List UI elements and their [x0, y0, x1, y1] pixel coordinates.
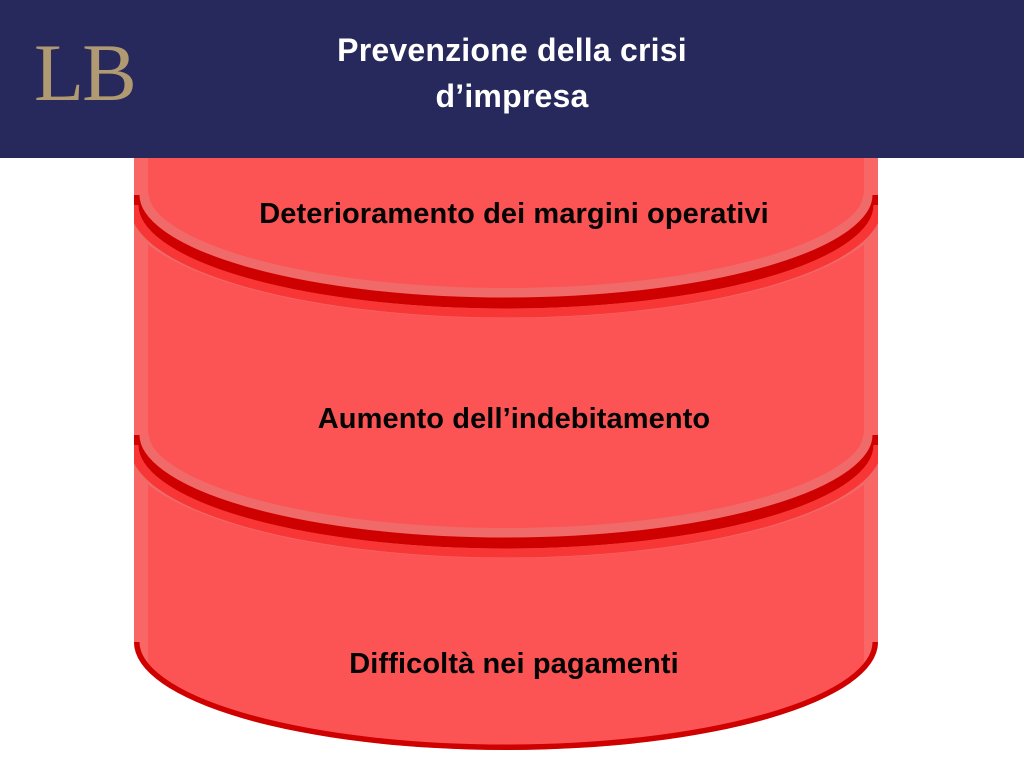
lb-monogram-logo: LB — [34, 28, 144, 118]
segment-label-pagamenti: Difficoltà nei pagamenti — [184, 643, 844, 685]
segment-label-deterioramento: Deterioramento dei margini operativi — [184, 193, 844, 235]
segment-label-indebitamento: Aumento dell’indebitamento — [184, 398, 844, 440]
header-bar: LB Prevenzione della crisi d’impresa — [0, 0, 1024, 158]
page-title: Prevenzione della crisi d’impresa — [262, 27, 762, 119]
slide-canvas: Deterioramento dei margini operativi Aum… — [0, 0, 1024, 768]
